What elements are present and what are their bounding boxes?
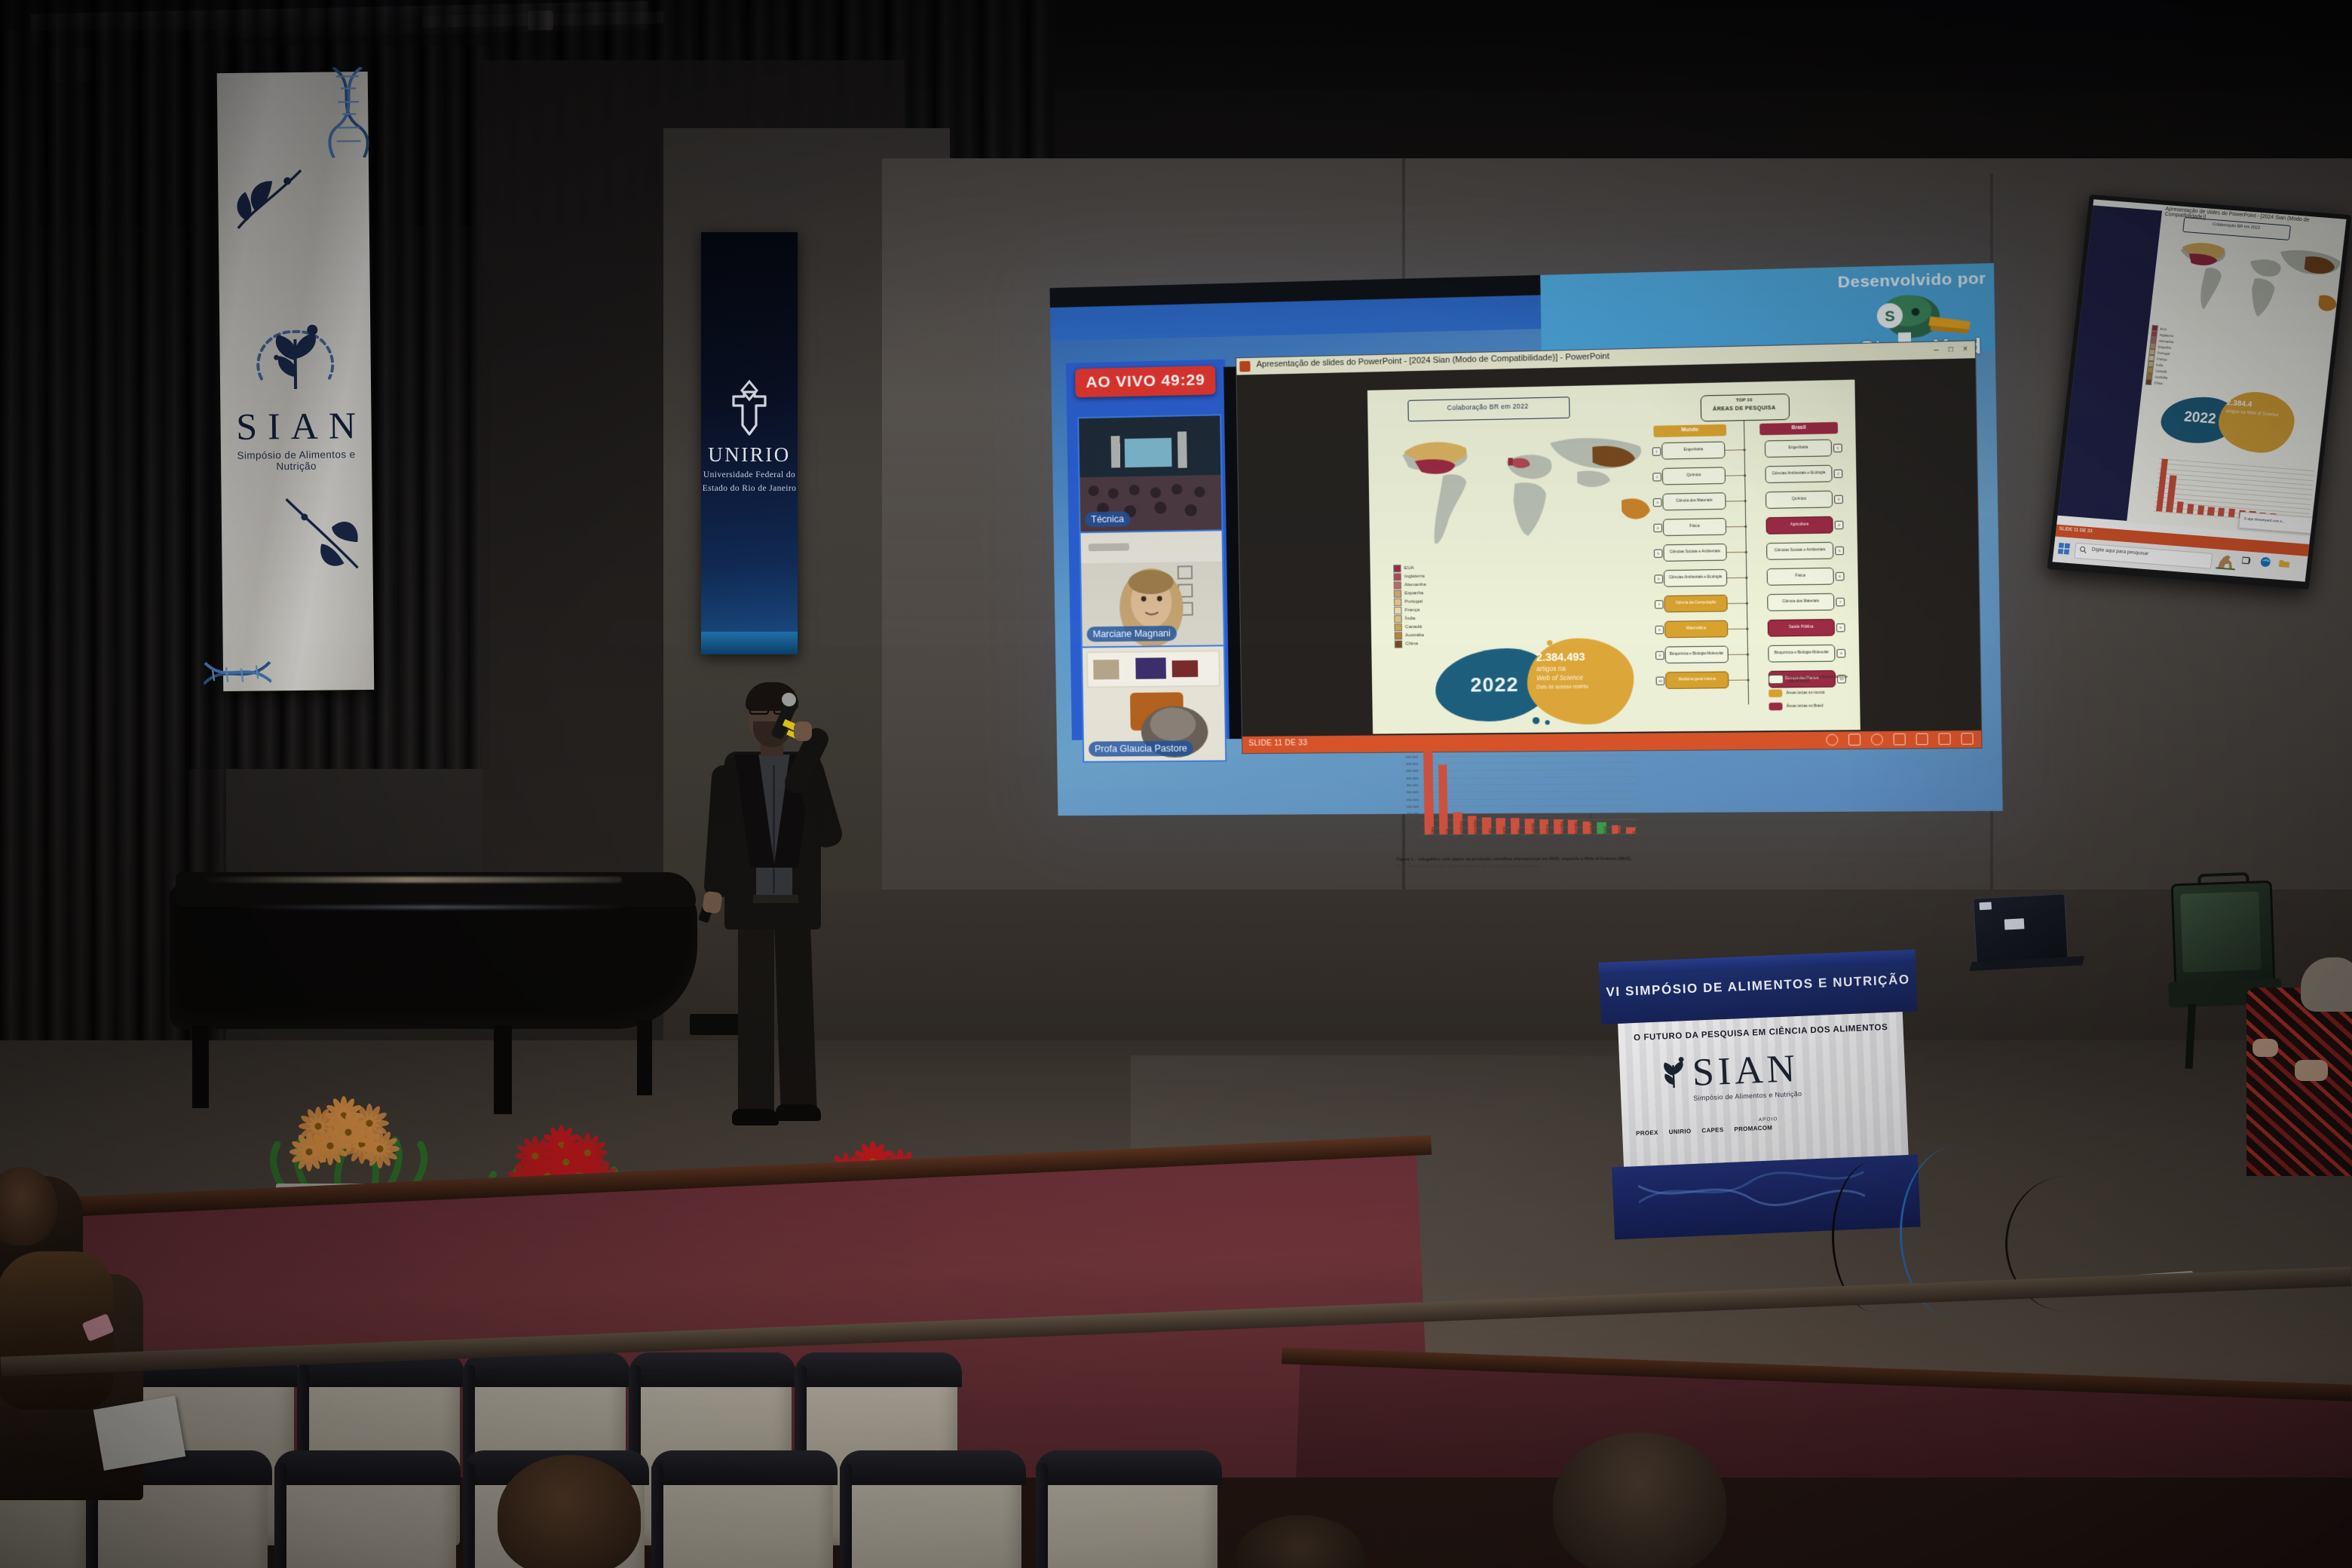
legend-label: Canadá: [2155, 369, 2167, 373]
legend-swatch: [2145, 378, 2152, 385]
grand-piano: [170, 856, 731, 1104]
sponsor-logo: CAPES: [1701, 1126, 1723, 1134]
monitor-screen: Apresentação de slides do PowerPoint - […: [2055, 199, 2346, 557]
rank-badge: 7: [1836, 598, 1845, 607]
spine-dot: [1747, 679, 1749, 681]
legend-item: Áreas únicas no mundo: [1769, 689, 1851, 697]
guest-hand: [2252, 1039, 2278, 1057]
spine-dot: [1744, 474, 1746, 476]
y-axis-tick: 250.000: [1407, 797, 1419, 801]
grid-line: [1421, 762, 1637, 764]
connector-line: [1729, 654, 1747, 655]
y-axis-tick: 50.000: [1409, 825, 1419, 829]
dna-helix-icon: [326, 67, 379, 158]
unirio-line1: Universidade Federal do: [701, 470, 798, 479]
x-axis-tick: Alemanha: [1474, 820, 1478, 836]
legend-label: Índia: [1405, 616, 1416, 621]
seat-trim: [651, 1450, 838, 1485]
top10-node: Saúde Pública: [1768, 619, 1835, 637]
rank-badge: 3: [1834, 495, 1843, 504]
legend-label: China: [2154, 381, 2163, 385]
grid-view-icon[interactable]: [1916, 733, 1928, 746]
dna-helix-icon: [203, 615, 271, 699]
confidence-monitor: Apresentação de slides do PowerPoint - […: [2044, 194, 2351, 612]
spine-dot: [1745, 551, 1747, 553]
connector-line: [1726, 501, 1744, 501]
slide-counter: SLIDE 11 DE 33: [1248, 739, 1307, 748]
minimize-button[interactable]: –: [1931, 346, 1941, 355]
bar: [2207, 507, 2215, 516]
top10-world-column: Engenharia1Química2Ciência dos Materiais…: [1648, 384, 1847, 389]
legend-label: Canadá: [1405, 624, 1422, 629]
blob-accent-dot: [1545, 720, 1550, 724]
legend-label: França: [2157, 357, 2167, 361]
x-axis-tick: EUA: [1445, 828, 1449, 836]
rank-badge: 9: [1655, 651, 1664, 660]
projection-screen: Desenvolvido por S StreamYard AO VIVO 49…: [1050, 263, 2003, 816]
piano-leg: [192, 1025, 209, 1108]
search-icon: [2079, 546, 2087, 554]
blob-accent-dot: [1533, 717, 1539, 724]
laptop-sticker: [2004, 918, 2025, 929]
rank-badge: 1: [1833, 444, 1842, 453]
y-axis-tick: 150.000: [1407, 811, 1419, 815]
legend-item: França: [1394, 605, 1450, 614]
rank-badge: 7: [1655, 600, 1664, 608]
sian-banner-title: SIAN: [220, 403, 372, 449]
blob-accent-dot: [1547, 640, 1552, 645]
legend-item: Índia: [1394, 614, 1450, 623]
legend-swatch: [1394, 615, 1401, 623]
legend-label: Inglaterra: [1404, 574, 1425, 579]
unirio-logo-icon: [726, 380, 773, 439]
top10-node: Bioquímica e Biologia Molecular: [1665, 646, 1729, 664]
y-axis-tick: 200.000: [1407, 804, 1419, 808]
powerpoint-icon: [1239, 361, 1250, 372]
y-axis-tick: 350.000: [1406, 783, 1418, 787]
connector-line: [1726, 552, 1745, 553]
speaker-belt: [753, 895, 798, 903]
y-axis-tick: 0: [1417, 832, 1419, 836]
grid-line: [1422, 798, 1637, 800]
x-axis-tick: China: [1431, 827, 1435, 836]
seat-armrest: [463, 1462, 475, 1568]
top10-node: Ciências Ambientais e Ecologia: [1664, 569, 1727, 587]
legend-swatch: [1394, 590, 1401, 597]
x-axis-tick: Inglaterra: [1459, 821, 1463, 836]
legend-label: Alemanha: [2158, 338, 2173, 344]
top10-legend: Áreas com correspondência dentro e fora …: [1769, 674, 1852, 716]
y-axis-tick: 550.000: [1406, 755, 1418, 758]
audience-seat: [1040, 1455, 1217, 1568]
connector-line: [1726, 475, 1744, 476]
connector-line: [1729, 680, 1747, 681]
seat-armrest: [274, 1462, 286, 1568]
legend-swatch: [1769, 675, 1784, 684]
grid-line: [1421, 769, 1637, 771]
participant-tile[interactable]: Marciane Magnani: [1080, 529, 1225, 648]
rank-badge: 10: [1656, 677, 1665, 685]
rank-badge: 3: [1653, 498, 1662, 507]
legend-swatch: [1394, 598, 1401, 605]
piano-leg: [637, 1020, 652, 1095]
legend-label: EUA: [2160, 326, 2167, 331]
maximize-button[interactable]: □: [1946, 345, 1955, 354]
seat-armrest: [651, 1462, 663, 1568]
monitor-world-map-icon: [2169, 233, 2344, 336]
guest-floral-blouse: [2246, 988, 2352, 1176]
top10-node: Bioquímica e Biologia Molecular: [1768, 645, 1835, 663]
spine-dot: [1746, 602, 1748, 605]
rank-badge: 5: [1835, 547, 1844, 556]
more-options-icon[interactable]: [1961, 733, 1973, 745]
grid-line: [1422, 791, 1637, 793]
horse-icon: [2216, 552, 2237, 570]
legend-swatch: [1769, 703, 1782, 710]
sian-logo-icon: [246, 313, 345, 404]
grid-line: [1422, 805, 1637, 807]
spine-dot: [1747, 654, 1749, 656]
x-axis-tick: Rússia: [1618, 825, 1622, 835]
top10-node: Química: [1766, 491, 1833, 509]
y-axis-tick: 500.000: [1406, 761, 1418, 765]
legend-item: Austrália: [1395, 631, 1450, 640]
laser-pointer-icon[interactable]: [1894, 733, 1906, 746]
top10-node: Ciências Ambientais e Ecologia: [1765, 465, 1832, 483]
speaker-shoe: [732, 1109, 779, 1125]
x-axis-tick: Espanha: [1560, 822, 1563, 836]
legend-swatch: [1393, 573, 1401, 580]
audience-member-head: [498, 1455, 641, 1568]
chair-leg: [2185, 1003, 2196, 1068]
x-axis-tick: Irã: [1632, 831, 1636, 835]
presenter-laptop: [1973, 893, 2083, 981]
legend-swatch: [1394, 606, 1401, 614]
unirio-banner-footer: [701, 632, 798, 654]
top10-node: Ciências Sociais e Ambientais: [1766, 542, 1833, 560]
piano-highlight: [237, 905, 629, 909]
seat-armrest: [1036, 1462, 1048, 1568]
live-badge: AO VIVO 49:29: [1075, 366, 1216, 397]
speaker-shoe: [776, 1104, 821, 1121]
legend-label: Inglaterra: [2159, 332, 2173, 337]
audience-seat: [844, 1455, 1021, 1568]
spine-dot: [1745, 577, 1747, 579]
participant-name: Marciane Magnani: [1087, 626, 1178, 642]
legend-swatch: [1395, 640, 1402, 648]
legend-label: Portugal: [2158, 351, 2170, 355]
legend-swatch: [1769, 689, 1782, 697]
shirt-button-placket: [773, 765, 775, 893]
bar: [2176, 501, 2184, 513]
audience-member-head: [1553, 1432, 1726, 1568]
slide-content: Colaboração BR em 2022: [1367, 380, 1860, 734]
sponsor-logo: UNIRIO: [1668, 1128, 1691, 1135]
leaf-ornament-icon: [282, 494, 366, 577]
piano-highlight: [200, 877, 622, 883]
y-axis-tick: 450.000: [1406, 769, 1418, 773]
rank-badge: 5: [1654, 550, 1663, 558]
x-axis-tick: Canadá: [1531, 823, 1535, 835]
rank-badge: 9: [1836, 649, 1845, 657]
pen-tool-icon[interactable]: [1826, 734, 1838, 746]
x-axis-tick: Brasil: [1603, 826, 1607, 835]
stage-photo: SIAN Simpósio de Alimentos e Nutrição UN…: [0, 0, 2352, 1568]
slideshow-canvas: Colaboração BR em 2022: [1237, 358, 1982, 738]
legend-label: EUA: [1404, 565, 1414, 571]
laptop-sticker: [1980, 902, 1992, 910]
sian-logo-icon: [1655, 1055, 1692, 1093]
x-axis-tick: Itália: [1517, 828, 1521, 836]
x-axis-tick: França: [1545, 825, 1549, 836]
connector-line: [1726, 526, 1745, 527]
start-icon[interactable]: [2058, 543, 2071, 555]
speaker-hand: [702, 890, 723, 914]
seat-armrest: [840, 1462, 852, 1568]
top10-spine: [1744, 421, 1750, 704]
legend-label: Austrália: [2154, 375, 2168, 379]
legend-label: Áreas com correspondência dentro e fora …: [1787, 675, 1851, 684]
connector-line: [1728, 629, 1747, 629]
seat-trim: [795, 1352, 962, 1387]
legend-item: Áreas únicas no Brasil: [1769, 702, 1851, 710]
seat-trim: [840, 1450, 1026, 1485]
top10-node: Matemática: [1664, 620, 1728, 639]
rank-badge: 4: [1653, 524, 1662, 532]
top10-node: Medicina geral interna: [1665, 672, 1729, 689]
top10-panel: TOP 10 ÁREAS DE PESQUISA Mundo Brasil En…: [1648, 384, 1852, 728]
rank-badge: 2: [1834, 470, 1843, 479]
seat-trim: [274, 1450, 461, 1485]
legend-label: Alemanha: [1404, 582, 1426, 588]
top10-node: Física: [1663, 518, 1726, 536]
top10-node: Ciência dos Materiais: [1767, 593, 1834, 611]
monitor-map-legend: EUA Inglaterra Alemanha Espanha Portugal…: [2145, 325, 2191, 388]
pause-icon[interactable]: [1848, 733, 1860, 746]
close-button[interactable]: ×: [1961, 345, 1971, 354]
y-axis-tick: 100.000: [1407, 819, 1419, 822]
top10-node: Ciência dos Materiais: [1662, 492, 1726, 510]
table-sian-wordmark: SIAN: [1692, 1046, 1814, 1095]
participant-name: Profa Glaucia Pastore: [1089, 741, 1193, 757]
bar: [2228, 509, 2235, 517]
legend-label: Espanha: [1404, 590, 1423, 596]
year-label: 2022: [1449, 672, 1539, 697]
audience-seat: [279, 1455, 456, 1568]
bar: [2197, 505, 2205, 515]
seated-guest: [2246, 957, 2352, 1206]
connector-line: [1728, 603, 1747, 604]
connector-line: [1725, 449, 1744, 451]
slideshow-toolbar[interactable]: [1826, 733, 1973, 746]
x-axis-tick: Japão: [1502, 826, 1506, 836]
spine-dot: [1744, 449, 1746, 451]
dna-helix-icon: [1637, 1161, 1865, 1216]
rank-badge: 8: [1836, 623, 1845, 632]
top10-node: Física: [1767, 568, 1834, 586]
seat-trim: [629, 1352, 796, 1387]
legend-label: Espanha: [2158, 345, 2171, 349]
legend-swatch: [1395, 632, 1402, 639]
subtitles-icon[interactable]: [1938, 733, 1950, 745]
speaker-person: [682, 682, 856, 1195]
top10-node: Engenharia: [1765, 439, 1832, 458]
participant-name: Técnica: [1085, 511, 1130, 527]
guest-hand: [2295, 1060, 2328, 1081]
articles-line2: Web of Science: [1536, 673, 1625, 681]
articles-line1: artigos na: [1536, 664, 1625, 672]
sian-banner: SIAN Simpósio de Alimentos e Nutrição: [217, 72, 375, 691]
participant-tile[interactable]: Profa Glaucia Pastore: [1081, 645, 1227, 762]
powerpoint-window[interactable]: Apresentação de slides do PowerPoint - […: [1236, 340, 1982, 754]
piano-leg: [494, 1025, 512, 1114]
spine-dot: [1744, 525, 1747, 528]
grid-line: [1421, 755, 1637, 757]
legend-swatch: [1394, 581, 1401, 589]
legend-swatch: [1394, 623, 1401, 631]
top10-node: Engenharia: [1661, 441, 1725, 459]
sian-banner-subtitle: Simpósio de Alimentos e Nutrição: [221, 449, 372, 473]
grid-line: [1422, 783, 1637, 786]
top10-node: Agricultura: [1766, 516, 1833, 534]
x-axis-tick: Índia: [1488, 828, 1492, 835]
world-map-icon: [1398, 424, 1658, 559]
rank-badge: 1: [1652, 447, 1661, 455]
record-icon[interactable]: [1871, 733, 1883, 746]
task-view-icon[interactable]: [2242, 556, 2252, 566]
bar: [2187, 504, 2194, 514]
guest-hair: [2301, 957, 2352, 1012]
unirio-name: UNIRIO: [701, 443, 798, 467]
edge-icon[interactable]: [2260, 556, 2272, 568]
seat-trim: [1036, 1450, 1222, 1485]
rank-badge: 6: [1654, 574, 1663, 583]
legend-label: Portugal: [1404, 599, 1423, 604]
top10-node: Química: [1662, 467, 1726, 485]
svg-text:S: S: [1885, 308, 1895, 325]
rank-badge: 6: [1836, 572, 1845, 581]
articles-number: 2.384.493: [1536, 650, 1625, 663]
spine-dot: [1746, 628, 1748, 630]
audience-seat: [656, 1455, 833, 1568]
legend-label: Índia: [2156, 363, 2164, 367]
connector-line: [1727, 577, 1746, 578]
participant-tile[interactable]: Técnica: [1077, 414, 1223, 533]
legend-item: Canadá: [1394, 622, 1450, 631]
legend-label: China: [1405, 641, 1418, 646]
y-axis-tick: 300.000: [1406, 790, 1418, 794]
y-axis-tick: 400.000: [1406, 776, 1418, 779]
legend-label: França: [1405, 608, 1420, 613]
x-axis-tick: Coreia do Sul: [1588, 814, 1593, 835]
grid-line: [1422, 776, 1637, 779]
top10-node: Ciência da Computação: [1664, 595, 1727, 613]
sponsor-logo: PROEX: [1636, 1129, 1658, 1137]
top10-node: Ciências Sociais e Ambientais: [1663, 544, 1726, 562]
legend-swatch: [1393, 565, 1401, 572]
bar: [1438, 764, 1448, 835]
articles-line3: Dois de acesso restrito: [1536, 684, 1625, 691]
rank-badge: 4: [1835, 521, 1844, 530]
top10-brazil-column: Engenharia1Ciências Ambientais e Ecologi…: [1648, 384, 1847, 389]
legend-label: Áreas únicas no Brasil: [1787, 704, 1823, 709]
map-legend: EUA Inglaterra Alemanha Espanha Portugal…: [1393, 563, 1450, 648]
folder-icon[interactable]: [2279, 559, 2290, 568]
unirio-banner: UNIRIO Universidade Federal do Estado do…: [701, 232, 798, 654]
x-axis-tick: Austrália: [1574, 822, 1578, 835]
spine-dot: [1744, 500, 1747, 502]
bar: [2218, 507, 2225, 516]
speaker-leg: [773, 900, 817, 1117]
legend-label: Áreas únicas no mundo: [1786, 691, 1824, 695]
legend-label: Austrália: [1405, 632, 1424, 638]
legend-item: China: [1395, 639, 1450, 648]
legend-item: Áreas com correspondência dentro e fora …: [1769, 674, 1851, 684]
rank-badge: 8: [1655, 626, 1664, 634]
leaf-ornament-icon: [231, 163, 308, 239]
speaker-leg: [738, 901, 774, 1119]
rank-badge: 2: [1652, 473, 1661, 481]
speaker-hand: [794, 721, 812, 741]
unirio-line2: Estado do Rio de Janeiro: [701, 484, 798, 493]
